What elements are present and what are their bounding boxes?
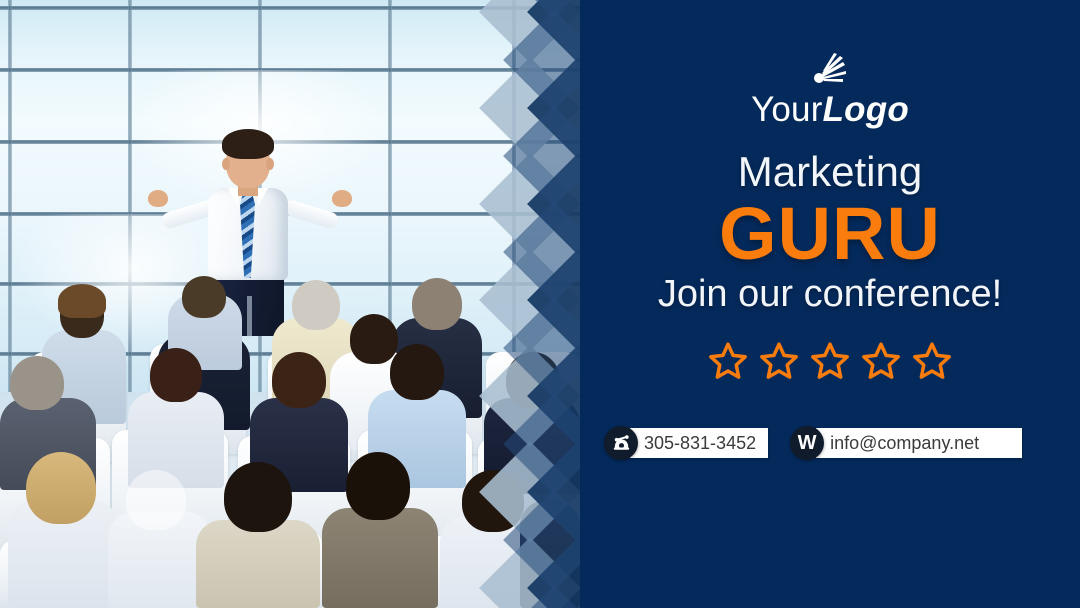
speaker-collar (228, 188, 238, 206)
headline-line-emphasis: GURU (580, 194, 1080, 274)
speaker-arm-right (282, 198, 340, 230)
telephone-icon (604, 426, 638, 460)
logo-text-bold: Logo (823, 90, 909, 129)
window-mullion (8, 0, 12, 400)
marketing-banner: YourLogo Marketing GURU Join our confere… (0, 0, 1080, 608)
star-rating[interactable] (580, 340, 1080, 382)
star-outline-icon[interactable] (911, 340, 953, 382)
logo-text: YourLogo (580, 92, 1080, 127)
speaker-ear (266, 158, 274, 170)
logo-text-light: Your (751, 90, 823, 129)
website-w-icon: W (790, 426, 824, 460)
phone-number-field[interactable]: 305-831-3452 (630, 428, 768, 458)
speaker-leg-gap (247, 296, 252, 338)
speaker-collar (258, 188, 268, 206)
burst-spark-icon (810, 52, 850, 86)
speaker-ear (222, 158, 230, 170)
star-outline-icon[interactable] (758, 340, 800, 382)
info-panel: YourLogo Marketing GURU Join our confere… (580, 0, 1080, 608)
speaker-hand-right (332, 190, 352, 207)
logo[interactable]: YourLogo (580, 52, 1080, 127)
email-address-field[interactable]: info@company.net (816, 428, 1022, 458)
headline-block: Marketing GURU Join our conference! (580, 150, 1080, 316)
phone-contact[interactable]: 305-831-3452 (604, 426, 768, 460)
contact-bar: 305-831-3452 W info@company.net (604, 422, 1060, 464)
star-outline-icon[interactable] (860, 340, 902, 382)
speaker-hand-left (148, 190, 168, 207)
star-outline-icon[interactable] (707, 340, 749, 382)
headline-line-top: Marketing (580, 150, 1080, 194)
email-contact[interactable]: W info@company.net (790, 426, 1022, 460)
headline-line-sub: Join our conference! (580, 274, 1080, 316)
speaker-hair (222, 129, 274, 159)
star-outline-icon[interactable] (809, 340, 851, 382)
